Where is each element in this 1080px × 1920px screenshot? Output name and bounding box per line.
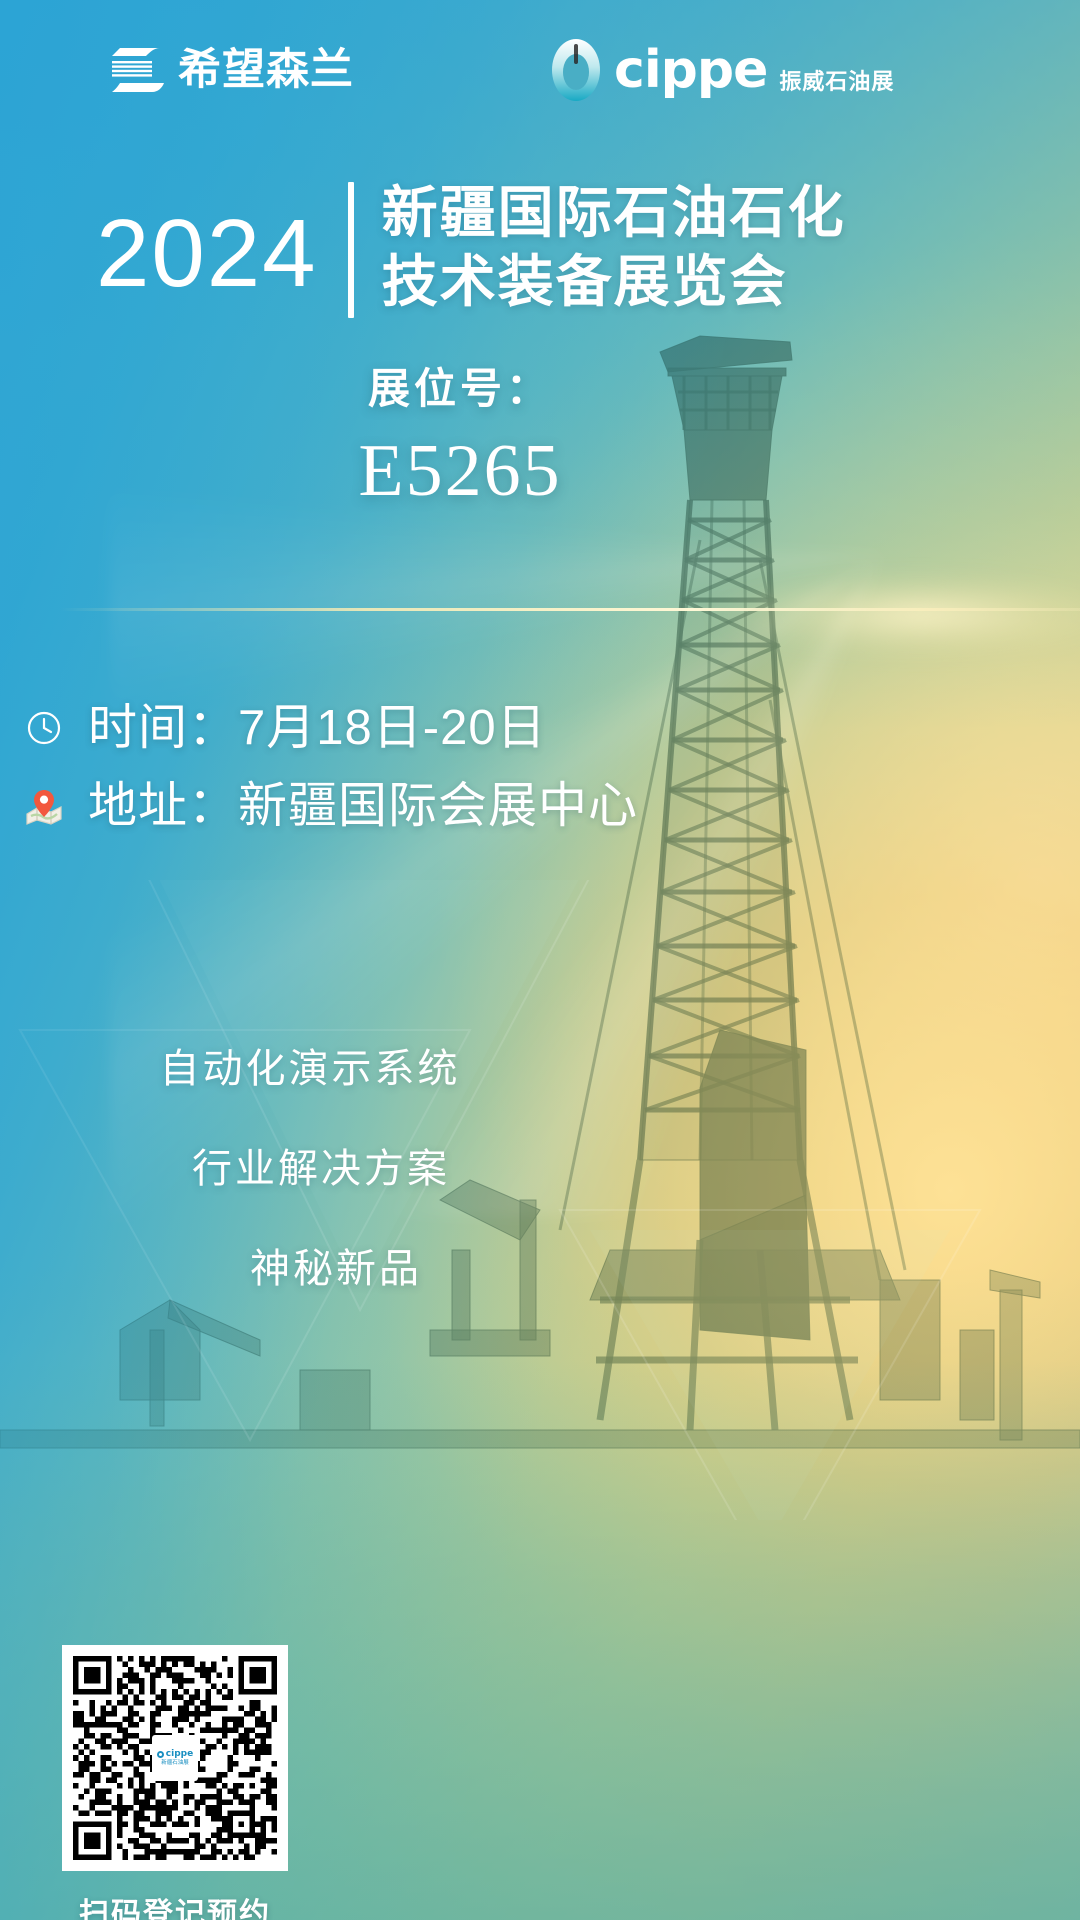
feature-item: 行业解决方案 — [192, 1145, 450, 1193]
exhibition-poster: 希望森兰 cippe 振威石 — [0, 0, 1080, 1920]
map-pin-icon — [22, 785, 66, 829]
qr-code-frame[interactable]: cippe 新疆石油展 — [62, 1645, 288, 1871]
event-info-list: 时间：7月18日-20日 地址：新疆国际会展中心 — [22, 700, 638, 835]
booth-block: 展位号： E5265 — [0, 360, 1080, 517]
header-logo-bar: 希望森兰 cippe 振威石 — [0, 38, 1080, 102]
title-block: 2024 新疆国际石油石化 技术装备展览会 — [96, 182, 846, 318]
qr-logo-subtitle: 新疆石油展 — [161, 1760, 189, 1766]
qr-center-logo: cippe 新疆石油展 — [152, 1735, 198, 1781]
cippe-subtitle: 振威石油展 — [779, 64, 894, 102]
xwsl-s-mark-icon — [108, 47, 164, 93]
qr-registration-block[interactable]: cippe 新疆石油展 扫码登记预约 — [62, 1645, 288, 1920]
event-year: 2024 — [96, 182, 318, 302]
cippe-dot-icon — [157, 1751, 164, 1758]
feature-item: 神秘新品 — [250, 1245, 422, 1293]
section-divider — [60, 608, 1080, 611]
info-time-text: 时间：7月18日-20日 — [88, 700, 547, 756]
event-title-line-2: 技术装备展览会 — [382, 251, 846, 314]
clock-icon — [22, 706, 66, 750]
qr-logo-word: cippe — [166, 1750, 193, 1759]
feature-item: 自动化演示系统 — [160, 1045, 461, 1093]
qr-caption: 扫码登记预约 — [62, 1889, 288, 1920]
xiwang-senlan-logo: 希望森兰 — [108, 47, 354, 93]
title-divider-rule — [348, 182, 354, 318]
cippe-logo: cippe 振威石油展 — [550, 38, 894, 102]
cippe-ring-icon — [550, 38, 602, 102]
feature-list: 自动化演示系统 行业解决方案 神秘新品 — [0, 1045, 620, 1293]
booth-number: E5265 — [0, 425, 1080, 518]
booth-label: 展位号： — [0, 360, 1080, 419]
info-address-text: 地址：新疆国际会展中心 — [88, 778, 638, 834]
event-title-line-1: 新疆国际石油石化 — [382, 182, 846, 245]
divider-glow — [640, 560, 1080, 670]
xiwang-senlan-wordmark: 希望森兰 — [178, 49, 354, 92]
info-row-time: 时间：7月18日-20日 — [22, 700, 638, 756]
cippe-wordmark: cippe — [614, 47, 767, 94]
info-row-address: 地址：新疆国际会展中心 — [22, 778, 638, 834]
